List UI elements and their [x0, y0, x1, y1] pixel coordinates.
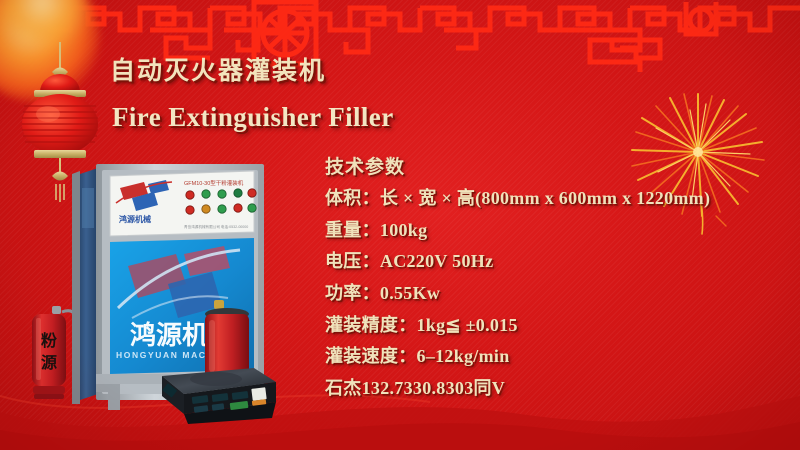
page-title-cn: 自动灭火器灌装机	[110, 58, 530, 86]
digital-scale-photo	[148, 366, 280, 428]
panel-footer-text: 青岛鸿源机械有限公司 电话:0532-00000	[184, 224, 248, 229]
spec-item-accuracy: 灌装精度：1kg≦ ±0.015	[325, 315, 795, 336]
spec-item-voltage: 电压：AC220V 50Hz	[325, 251, 795, 272]
spec-item-weight: 重量：100kg	[325, 220, 795, 241]
spec-heading: 技术参数	[325, 152, 795, 179]
extinguisher-label-char1: 粉	[41, 331, 57, 350]
spec-item-contact: 石杰132.7330.8303同V	[325, 378, 795, 399]
panel-brand-text: 鸿源机械	[119, 214, 151, 224]
extinguisher-label-char2: 源	[41, 353, 57, 372]
spec-item-dimensions: 体积：长 × 宽 × 高(800mm x 600mm x 1220mm)	[325, 188, 795, 209]
spec-list: 技术参数 体积：长 × 宽 × 高(800mm x 600mm x 1220mm…	[325, 152, 795, 399]
poster-title-block: 自动灭火器灌装机 Fire Extinguisher Filler	[110, 58, 530, 133]
page-title-en: Fire Extinguisher Filler	[112, 102, 530, 133]
panel-model-text: GFM10-30型干粉灌装机	[184, 179, 244, 187]
spec-item-power: 功率：0.55Kw	[325, 283, 795, 304]
poster-canvas: 粉 源	[0, 0, 800, 450]
spec-item-speed: 灌装速度：6–12kg/min	[325, 346, 795, 367]
